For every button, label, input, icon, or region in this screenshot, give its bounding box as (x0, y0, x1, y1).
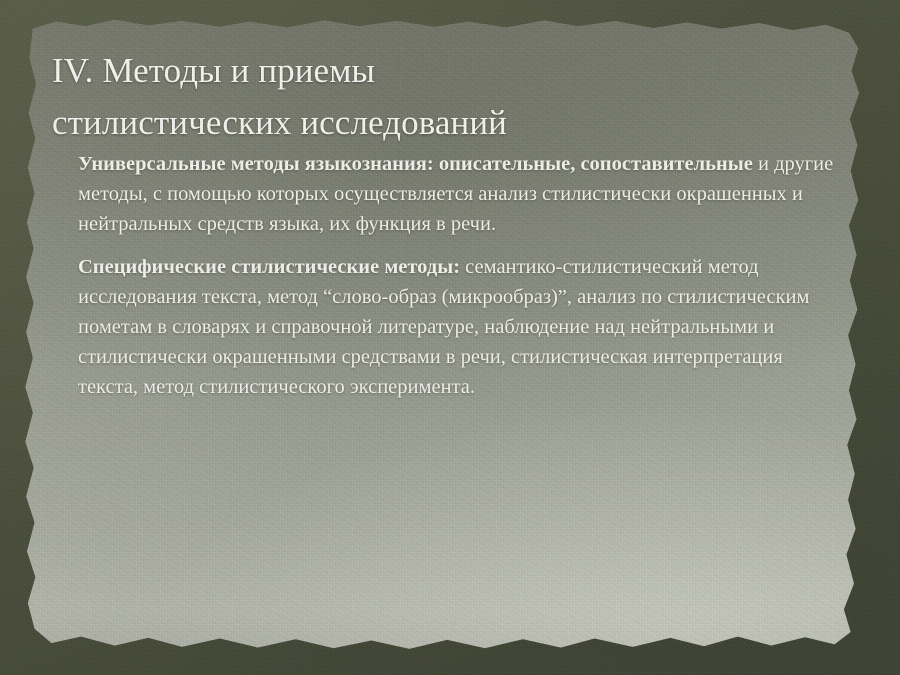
paragraph-specific-stylistic-methods: Специфические стилистические методы: сем… (78, 253, 846, 402)
slide-title: IV. Методы и приемы стилистических иссле… (52, 45, 772, 149)
slide-title-line-2: стилистических исследований (52, 103, 507, 142)
presentation-slide: IV. Методы и приемы стилистических иссле… (0, 0, 900, 675)
slide-title-line-1: IV. Методы и приемы (52, 51, 375, 90)
slide-content: IV. Методы и приемы стилистических иссле… (0, 0, 900, 675)
paragraph-2-bold-lead: Специфические стилистические методы: (78, 256, 460, 278)
slide-body: Универсальные методы языкознания: описат… (78, 150, 846, 403)
paragraph-1-bold-lead: Универсальные методы языкознания: описат… (78, 153, 753, 175)
paragraph-universal-methods: Универсальные методы языкознания: описат… (78, 150, 846, 239)
